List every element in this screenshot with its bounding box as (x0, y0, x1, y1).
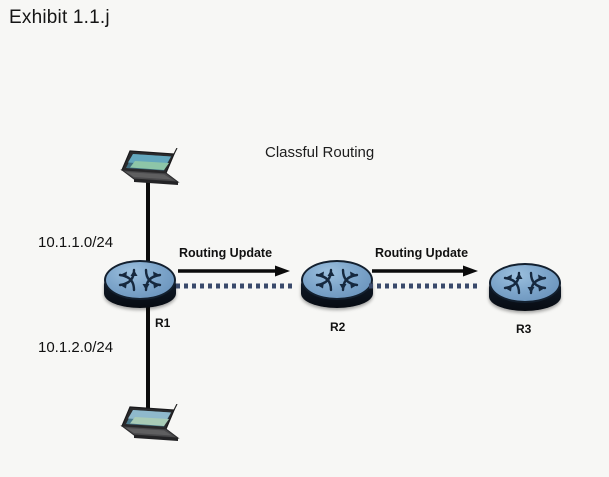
link-label-r2-r3: Routing Update (375, 246, 468, 260)
diagram-title: Classful Routing (265, 144, 374, 161)
page-title: Exhibit 1.1.j (9, 7, 110, 29)
network-label-lower: 10.1.2.0/24 (38, 339, 113, 356)
laptop-icon-upper (108, 148, 184, 190)
router-r3[interactable] (487, 261, 565, 319)
router-r2[interactable] (299, 258, 377, 316)
router-label-r1: R1 (155, 316, 170, 330)
router-icon (489, 263, 561, 303)
network-label-upper: 10.1.1.0/24 (38, 234, 113, 251)
routing-update-arrow-r1-r2 (178, 265, 290, 277)
router-label-r2: R2 (330, 320, 345, 334)
router-label-r3: R3 (516, 322, 531, 336)
router-icon (301, 260, 373, 300)
trunk-line-lower (146, 300, 150, 412)
router-r1[interactable] (102, 258, 180, 316)
laptop-icon (108, 148, 184, 190)
laptop-icon-lower (108, 404, 184, 446)
link-label-r1-r2: Routing Update (179, 246, 272, 260)
diagram-canvas: Exhibit 1.1.j Classful Routing 10.1.1.0/… (0, 0, 609, 477)
routing-update-dotted-r1-r2 (175, 283, 295, 289)
routing-update-dotted-r2-r3 (368, 283, 482, 289)
routing-update-arrow-r2-r3 (372, 265, 478, 277)
laptop-icon (108, 404, 184, 446)
router-icon (104, 260, 176, 300)
